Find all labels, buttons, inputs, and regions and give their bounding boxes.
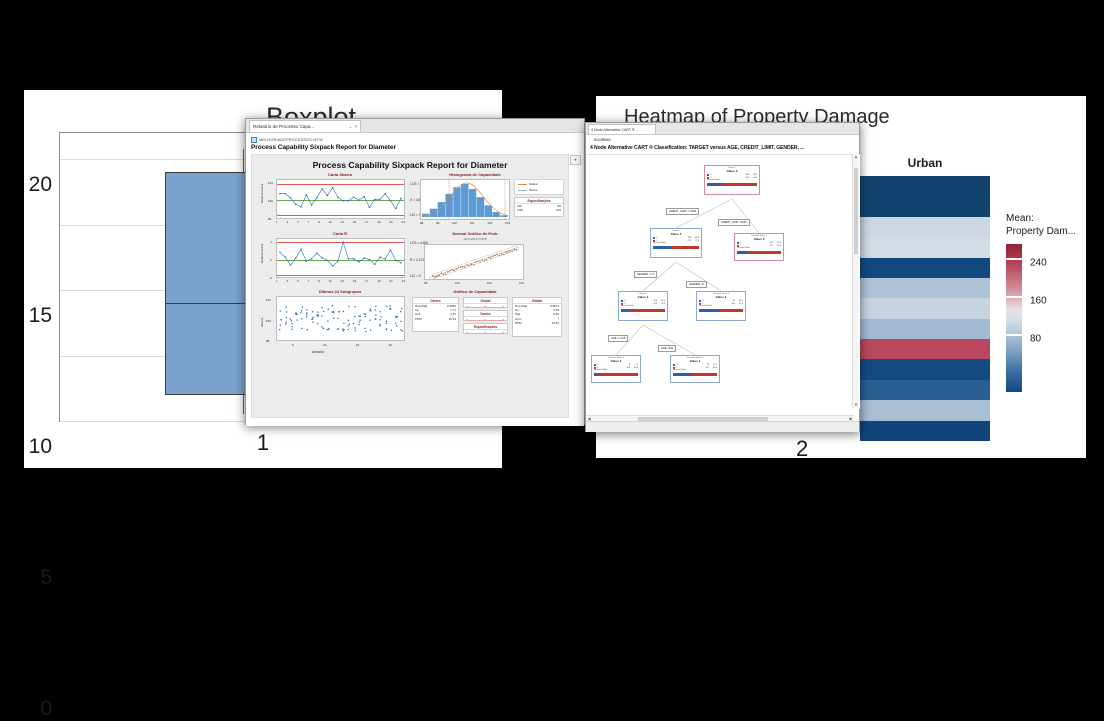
axis-tick: 7 — [308, 279, 310, 283]
axis-tick: 17 — [365, 220, 368, 224]
cart-tab[interactable]: 4 Node Alternative CART ® ... — [588, 124, 656, 134]
worksheet-icon — [251, 137, 257, 143]
r-lcl-label: LCI = 0 — [410, 274, 421, 278]
axis-tick: 102 — [487, 221, 492, 225]
axis-tick: 102 — [487, 281, 492, 285]
heatmap-cell — [860, 400, 990, 420]
subgroups-plot-area — [276, 296, 405, 341]
subgroups-x-axis-label: Amostra — [312, 350, 324, 354]
cart-split-label: CREDIT_LIMIT <=1640 — [666, 208, 699, 215]
cart-body: SCORING 4 Node Alternative CART ® Classi… — [586, 135, 859, 432]
xbar-chart-title: Carta Xbarra — [270, 172, 410, 177]
histogram-legend-dentro: Dentro — [529, 188, 538, 192]
minitab-tab-strip: Relatório de Processo Capa... ⌄ × — [246, 119, 584, 133]
axis-tick: 100 — [452, 221, 457, 225]
worksheet-filename: MELHORIADEPROCESSOS.MTW — [259, 138, 323, 142]
cart-tree-canvas: Node 1Class 0060050.0160050.0Terminal No… — [586, 154, 860, 409]
axis-tick: 21 — [389, 279, 392, 283]
xbar-x-ticks: 1357911131517192123 — [276, 220, 405, 224]
boxplot-y-tick: 15 — [29, 304, 52, 328]
axis-tick: 21 — [389, 220, 392, 224]
minitab-tab-label: Relatório de Processo Capa... — [253, 124, 346, 129]
stats-global-row: PPM12.81 — [513, 321, 561, 325]
capability-row: Global+++ — [463, 297, 508, 308]
chevron-down-icon[interactable]: ⌄ — [348, 124, 352, 130]
axis-tick: 5 — [297, 279, 299, 283]
heatmap-legend-title: Mean: Property Dam... — [1006, 212, 1084, 238]
histogram-legend-global: Global — [529, 182, 537, 186]
cart-tree-node[interactable]: Node 1Class 0060050.0160050.0Terminal No… — [704, 165, 760, 195]
node-distribution-bar — [699, 309, 743, 312]
class-pct: 74.0 — [658, 303, 665, 306]
boxplot-y-tick: 5 — [40, 566, 52, 590]
cart-split-label: CREDIT_LIMIT >1640 — [718, 219, 750, 226]
heatmap-legend: Mean: Property Dam... 240 160 80 — [1006, 212, 1084, 238]
histogram-x-ticks: 9899100101102103 — [420, 221, 510, 225]
minitab-sixpack-window[interactable]: Relatório de Processo Capa... ⌄ × MELHOR… — [245, 118, 585, 425]
axis-tick: 15 — [353, 279, 356, 283]
heatmap-column-header: Urban — [860, 156, 990, 170]
class-count: 106 — [627, 367, 630, 370]
xbar-plot-area — [276, 179, 405, 219]
colorbar-separator — [1006, 296, 1022, 298]
boxplot-y-tick: 0 — [40, 697, 52, 721]
scroll-down-icon[interactable]: ▼ — [853, 402, 859, 408]
legend-line-dentro — [518, 190, 527, 191]
cart-split-label: GENDER >0 — [686, 281, 707, 288]
axis-tick: 19 — [377, 220, 380, 224]
class-pct: 50.0 — [750, 177, 757, 180]
axis-tick: 23 — [402, 220, 405, 224]
heatmap-page-number: 2 — [796, 436, 808, 462]
sixpack-graph-title: Process Capability Sixpack Report for Di… — [252, 160, 568, 170]
legend-title-line1: Mean: — [1006, 212, 1084, 225]
axis-tick: 9 — [318, 220, 320, 224]
r-center-label: R = 2.271 — [410, 258, 424, 262]
class-pct: 93.0 — [631, 367, 638, 370]
close-icon[interactable]: × — [354, 124, 357, 129]
subgroups-x-ticks: 5101520 — [292, 343, 392, 347]
node-bar-title: Terminal Node — [705, 179, 759, 181]
stat-label: PPM — [415, 317, 422, 321]
capability-interval: +++ — [464, 330, 507, 336]
heatmap-grid — [860, 176, 990, 441]
capability-row: Dentro+++ — [463, 310, 508, 321]
xbar-series — [277, 180, 404, 218]
cart-tree-node[interactable]: Node 2Class 1018828.4147371.6Terminal No… — [650, 228, 702, 258]
stat-value: 105 — [556, 208, 561, 212]
sixpack-graph-canvas: Process Capability Sixpack Report for Di… — [251, 154, 569, 418]
histogram-legend: Global Dentro — [514, 179, 564, 195]
boxplot-y-tick: 20 — [29, 173, 52, 197]
cart-tree-node[interactable]: Node 3Class 1010326.0129374.0Terminal No… — [618, 291, 668, 321]
cart-report-heading: 4 Node Alternative CART ® Classification… — [590, 145, 804, 151]
cart-tab-strip: 4 Node Alternative CART ® ... — [586, 123, 859, 135]
r-chart-y-tick: 4 — [270, 240, 272, 244]
cart-split-label: AGE <= 225 — [608, 335, 628, 342]
minitab-report-heading: Process Capability Sixpack Report for Di… — [251, 144, 396, 151]
axis-tick: 20 — [389, 343, 392, 347]
node-distribution-bar — [707, 183, 757, 186]
node-distribution-bar — [653, 246, 699, 249]
colorbar-gradient — [1006, 244, 1022, 392]
heatmap-cell — [860, 278, 990, 298]
r-chart-series — [277, 239, 404, 277]
subgroups-y-tick: 102 — [266, 298, 271, 302]
axis-tick: 101 — [470, 221, 475, 225]
node-bar-title: Terminal Node — [619, 305, 667, 307]
axis-tick: 13 — [341, 279, 344, 283]
stat-label: PPM — [515, 321, 522, 325]
class-count: 293 — [654, 303, 657, 306]
cart-split-label: GENDER <= 0 — [634, 271, 657, 278]
histogram-plot-area — [420, 179, 510, 220]
axis-tick: 7 — [308, 220, 310, 224]
normal-plot-title: Normal Gráfico de Prob — [420, 231, 530, 236]
axis-tick: 19 — [377, 279, 380, 283]
colorbar-separator — [1006, 258, 1022, 260]
r-chart-x-ticks: 1357911131517192123 — [276, 279, 405, 283]
axis-tick: 5 — [297, 220, 299, 224]
node-bar-title: Terminal Node — [592, 369, 640, 371]
heatmap-cell — [860, 298, 990, 318]
class-pct: 71.6 — [692, 240, 699, 243]
r-chart-y-tick: 0 — [270, 276, 272, 280]
xbar-y-tick: 100 — [268, 199, 273, 203]
normal-plot-subtitle: AD:0.201 P:0.878 — [420, 237, 530, 241]
node-distribution-bar — [673, 373, 717, 376]
heatmap-cell — [860, 380, 990, 400]
stat-label: LSE — [517, 208, 523, 212]
subgroups-y-tick: 100 — [266, 319, 271, 323]
cart-window[interactable]: 4 Node Alternative CART ® ... SCORING 4 … — [585, 122, 860, 432]
axis-tick: 5 — [292, 343, 294, 347]
boxplot-page-number: 1 — [24, 430, 502, 456]
r-chart-title: Carta R — [270, 231, 410, 236]
boxplot-upper-whisker — [243, 149, 244, 173]
heatmap-cell — [860, 319, 990, 339]
boxplot-lower-whisker — [243, 395, 244, 415]
xbar-y-tick: 99 — [268, 217, 271, 221]
node-bar-title: Terminal Node — [651, 242, 701, 244]
axis-tick: 13 — [341, 220, 344, 224]
axis-tick: 98 — [424, 281, 427, 285]
cart-vscroll-thumb[interactable] — [854, 168, 858, 254]
cart-status-bar — [586, 421, 859, 432]
class-pct: 66.3 — [710, 367, 717, 370]
class-count: 180 — [732, 303, 735, 306]
xbar-y-axis-label: Média Amostral — [260, 184, 264, 203]
axis-tick: 98 — [420, 221, 423, 225]
normal-plot-points — [425, 245, 523, 279]
stats-dentro-row: PPM11.43 — [413, 317, 458, 321]
colorbar-separator — [1006, 334, 1022, 336]
heatmap-cell — [860, 196, 990, 216]
capability-plot-rows: Global+++Dentro+++Especificações+++ — [463, 297, 508, 336]
node-bar-title: Terminal Node — [697, 305, 745, 307]
axis-tick: 1 — [276, 279, 278, 283]
cart-tree-node[interactable]: Terminal Node 1Class 0041276.4112723.6Te… — [734, 233, 784, 261]
axis-tick: 99 — [436, 221, 439, 225]
subgroups-points — [277, 297, 404, 340]
legend-line-global — [518, 184, 527, 185]
class-pct: 23.6 — [774, 245, 781, 248]
subgroups-chart-title: Últimos 24 Subgrupos — [270, 289, 410, 294]
collapse-icon[interactable]: ▾ — [570, 155, 581, 165]
axis-tick: 104 — [519, 281, 524, 285]
heatmap-cell — [860, 359, 990, 379]
scroll-up-icon[interactable]: ▲ — [853, 154, 859, 160]
cart-tree-node[interactable]: Terminal Node 3Class 1087.0110693.0Termi… — [591, 355, 641, 383]
stats-global-box: Global DesvPad0.6673Pp1.56Ppk0.36Cpm*PPM… — [512, 297, 562, 337]
axis-tick: 11 — [329, 279, 332, 283]
axis-tick: 1 — [276, 220, 278, 224]
axis-tick: 15 — [353, 220, 356, 224]
node-distribution-bar — [621, 309, 665, 312]
colorbar-tick: 160 — [1030, 296, 1047, 307]
subgroups-y-tick: 98 — [266, 339, 269, 343]
cart-vertical-scrollbar[interactable]: ▲ ▼ — [852, 154, 859, 408]
heatmap-cell — [860, 176, 990, 196]
axis-tick: 100 — [455, 281, 460, 285]
node-distribution-bar — [737, 251, 781, 254]
colorbar-tick: 80 — [1030, 334, 1041, 345]
spec-limit-row: LSE105 — [515, 208, 563, 212]
heatmap-cell — [860, 258, 990, 278]
axis-tick: 3 — [287, 220, 289, 224]
class-pct: 67.9 — [736, 303, 743, 306]
axis-tick: 11 — [329, 220, 332, 224]
axis-tick: 3 — [287, 279, 289, 283]
stats-dentro-box: Dentro DesvPad0.5966Cp1.71Cpk0.37PPM11.4… — [412, 297, 459, 332]
cart-dataset-name: SCORING — [594, 138, 611, 142]
screenshot-stage: Boxplot 05101520 1 Heatmap of Property D… — [0, 0, 1104, 556]
xbar-y-tick: 101 — [268, 181, 273, 185]
minitab-body: MELHORIADEPROCESSOS.MTW Process Capabili… — [246, 133, 584, 426]
histogram-title: Histograma de Capacidade — [420, 172, 530, 177]
heatmap-cell — [860, 237, 990, 257]
axis-tick: 103 — [505, 221, 510, 225]
stat-value: 12.81 — [551, 321, 559, 325]
capability-plot-title: Gráfico de Capacidade — [420, 289, 530, 294]
cart-tree-node[interactable]: Terminal Node 2Class 108532.1118067.9Ter… — [696, 291, 746, 321]
class-count: 127 — [770, 245, 773, 248]
histogram-bars — [421, 180, 509, 219]
subgroups-y-axis-label: Valores — [260, 318, 264, 327]
r-chart-plot-area — [276, 238, 405, 278]
capability-row: Especificações+++ — [463, 323, 508, 334]
axis-tick: 10 — [323, 343, 326, 347]
worksheet-line: MELHORIADEPROCESSOS.MTW — [251, 137, 323, 143]
cart-tree-node[interactable]: Terminal Node 4Class 109533.7118766.3Ter… — [670, 355, 720, 383]
node-bar-title: Terminal Node — [735, 247, 783, 249]
r-chart-y-axis-label: Média Amostral — [260, 244, 264, 263]
colorbar-tick: 240 — [1030, 258, 1047, 269]
axis-tick: 15 — [356, 343, 359, 347]
class-count: 187 — [706, 367, 709, 370]
minitab-tab[interactable]: Relatório de Processo Capa... ⌄ × — [249, 120, 361, 132]
cart-split-label: AGE >225 — [658, 345, 676, 352]
legend-title-line2: Property Dam... — [1006, 225, 1084, 238]
heatmap-cell — [860, 421, 990, 441]
heatmap-cell — [860, 217, 990, 237]
normal-plot-area — [424, 244, 524, 280]
axis-tick: 9 — [318, 279, 320, 283]
stat-value: 11.43 — [449, 317, 456, 321]
normal-plot-x-ticks: 98100102104 — [424, 281, 524, 285]
class-count: 600 — [746, 177, 749, 180]
node-distribution-bar — [594, 373, 638, 376]
r-chart-y-tick: 2 — [270, 258, 272, 262]
class-count: 473 — [688, 240, 691, 243]
spec-limits-box: Especificações LIE99LSE105 — [514, 197, 564, 217]
heatmap-cell — [860, 339, 990, 359]
node-bar-title: Terminal Node — [671, 369, 719, 371]
heatmap-colorbar: 240 160 80 — [1006, 244, 1084, 392]
cart-tab-label: 4 Node Alternative CART ® ... — [591, 128, 639, 132]
axis-tick: 17 — [365, 279, 368, 283]
axis-tick: 23 — [402, 279, 405, 283]
